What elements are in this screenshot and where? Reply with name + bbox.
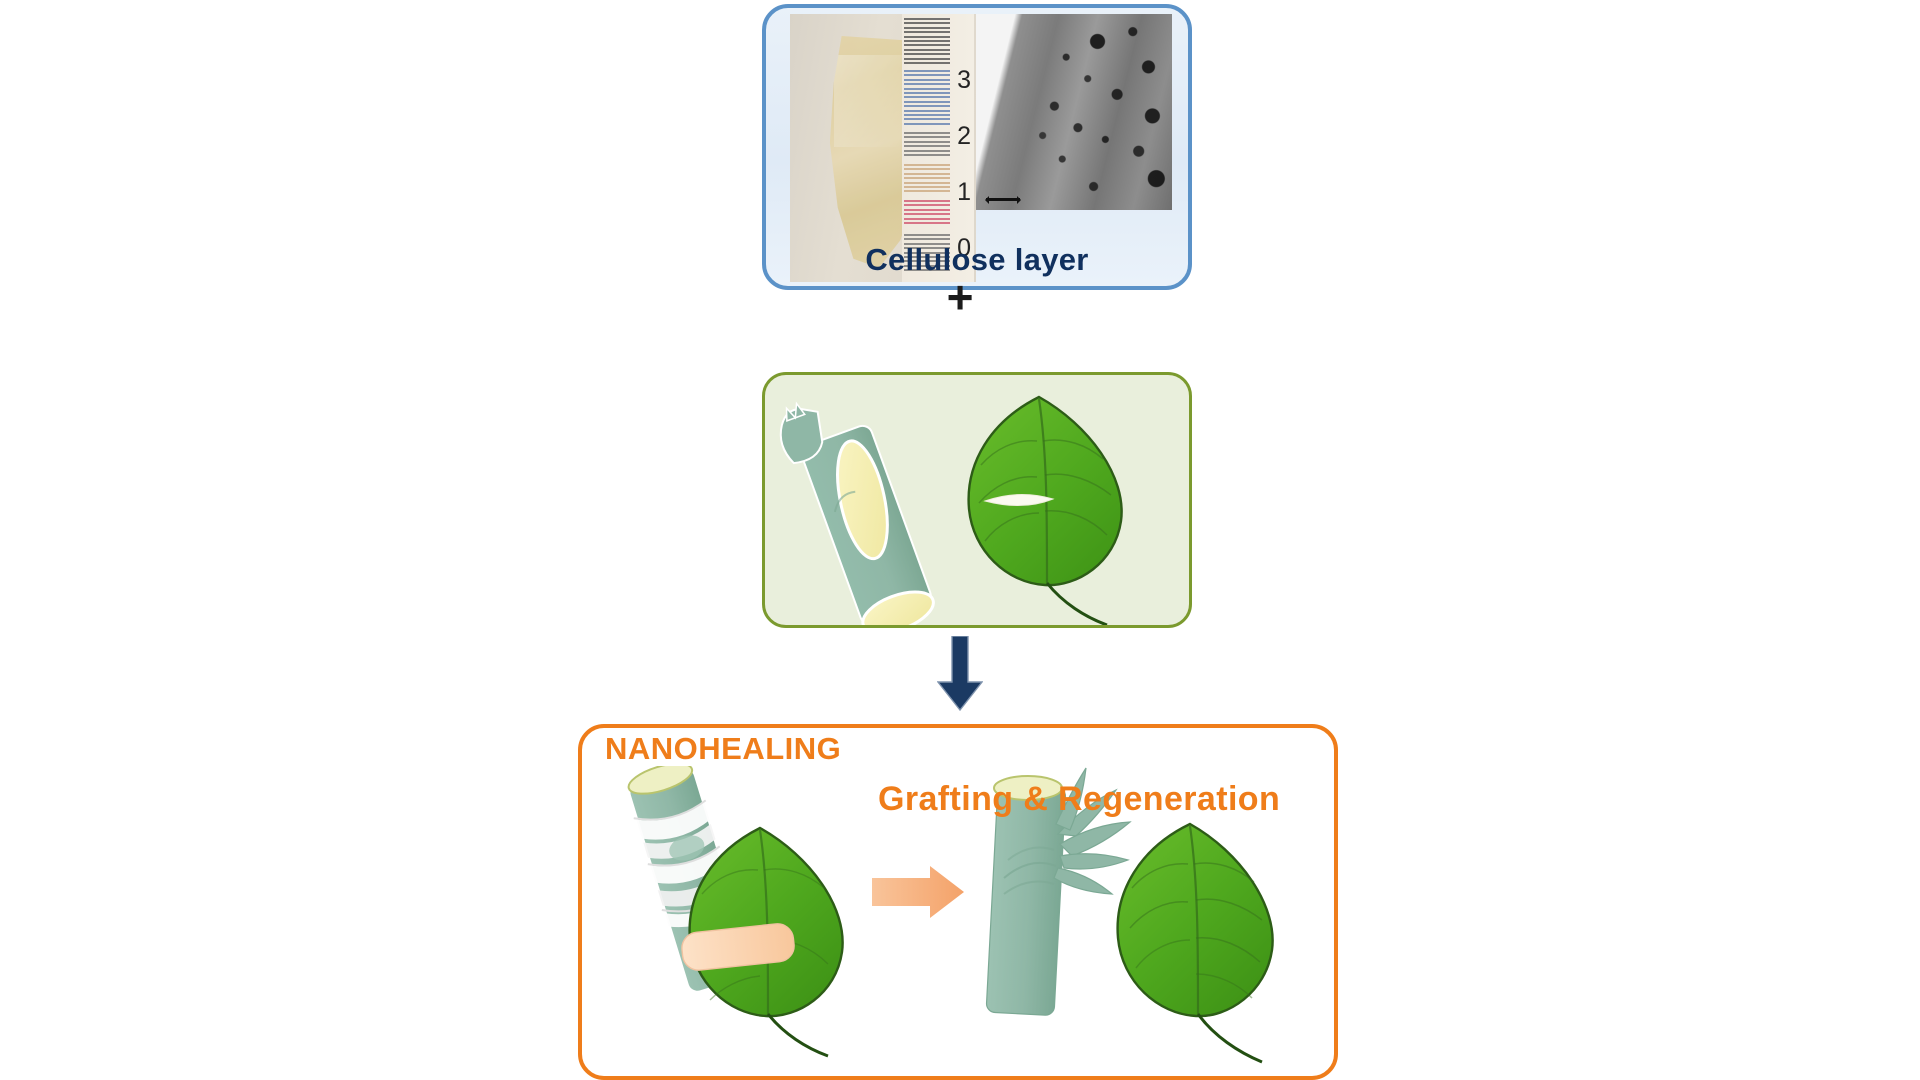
healed-leaf-petiole (1198, 1014, 1262, 1062)
cellulose-panel: 3 2 1 0 Cellulose layer (762, 4, 1192, 290)
plus-icon: + (947, 274, 974, 320)
right-arrow-icon (872, 866, 964, 918)
healed-leaf (1118, 824, 1273, 1062)
wounded-plant-illustration (765, 375, 1189, 625)
tem-micrograph (976, 14, 1172, 210)
transition-arrow-right (872, 866, 964, 918)
cellulose-panel-label: Cellulose layer (766, 242, 1188, 278)
ruler-tick-1: 1 (957, 180, 971, 205)
down-arrow-icon (937, 636, 983, 712)
ruler-tick-3: 3 (957, 68, 971, 93)
wounded-leaf (969, 397, 1122, 625)
wounded-stem (771, 383, 939, 625)
ruler-tick-2: 2 (957, 124, 971, 149)
nanohealing-panel (578, 724, 1338, 1080)
leaf-petiole (1047, 583, 1107, 625)
process-arrow-down (937, 636, 983, 712)
wounded-plant-panel (762, 372, 1192, 628)
patched-leaf-petiole (768, 1014, 828, 1056)
tem-scale-bar-icon (986, 198, 1020, 201)
tem-nanoparticle-field (976, 14, 1172, 210)
healed-leaf-blade (1118, 824, 1273, 1016)
nanohealing-badge: NANOHEALING (597, 733, 849, 766)
grafting-regeneration-heading: Grafting & Regeneration (878, 782, 1280, 818)
figure-canvas: 3 2 1 0 Cellulose layer + (0, 0, 1920, 1080)
regenerated-stem-shaft (986, 784, 1066, 1015)
